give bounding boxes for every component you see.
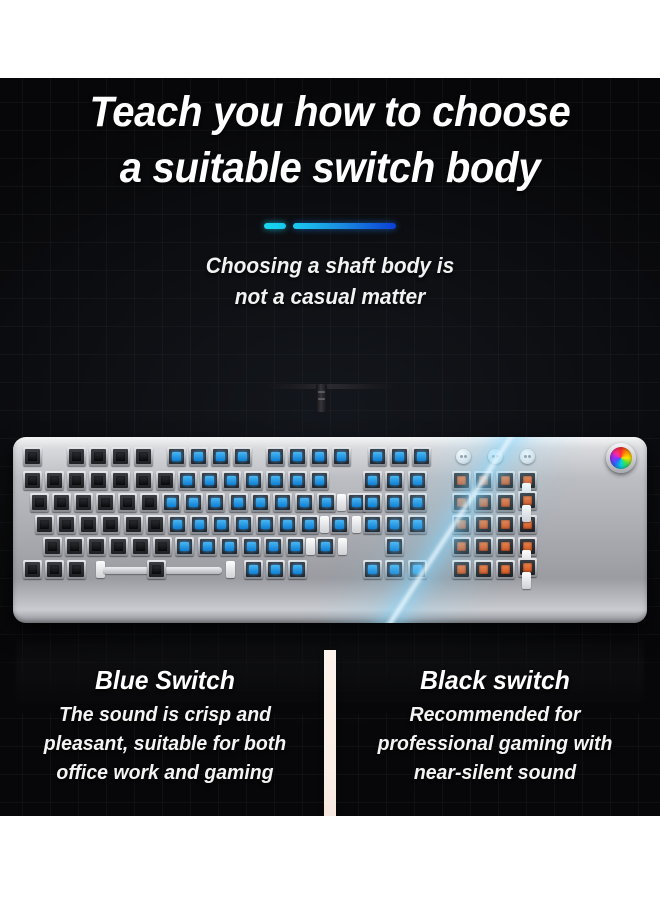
stabiliser-clip xyxy=(522,505,531,522)
comparison-column-blue: Blue Switch The sound is crisp and pleas… xyxy=(0,662,330,787)
indicator-led xyxy=(456,449,471,464)
key-switch[interactable] xyxy=(288,471,307,490)
key-switch[interactable] xyxy=(178,471,197,490)
page-subtitle: Choosing a shaft body is not a casual ma… xyxy=(17,250,644,312)
key-switch[interactable] xyxy=(317,493,336,512)
key-switch[interactable] xyxy=(316,537,335,556)
key-switch[interactable] xyxy=(251,493,270,512)
key-switch[interactable] xyxy=(244,560,263,579)
key-switch[interactable] xyxy=(67,447,86,466)
blue-switch-desc-line-2: pleasant, suitable for both xyxy=(44,732,286,755)
key-switch[interactable] xyxy=(390,447,409,466)
key-switch[interactable] xyxy=(452,515,471,534)
key-switch[interactable] xyxy=(89,471,108,490)
key-switch[interactable] xyxy=(385,515,404,534)
key-switch[interactable] xyxy=(211,447,230,466)
key-switch[interactable] xyxy=(496,537,515,556)
key-switch[interactable] xyxy=(147,560,166,579)
blue-switch-title: Blue Switch xyxy=(14,662,316,698)
page-subtitle-line-2: not a casual matter xyxy=(235,284,425,309)
key-switch[interactable] xyxy=(67,471,86,490)
key-switch[interactable] xyxy=(200,471,219,490)
key-switch[interactable] xyxy=(310,471,329,490)
key-switch[interactable] xyxy=(118,493,137,512)
key-switch[interactable] xyxy=(131,537,150,556)
key-switch[interactable] xyxy=(266,560,285,579)
key-switch[interactable] xyxy=(496,515,515,534)
key-switch[interactable] xyxy=(124,515,143,534)
key-switch[interactable] xyxy=(212,515,231,534)
key-switch[interactable] xyxy=(266,471,285,490)
key-switch[interactable] xyxy=(363,493,382,512)
key-switch[interactable] xyxy=(474,471,493,490)
key-switch[interactable] xyxy=(452,560,471,579)
key-switch[interactable] xyxy=(332,447,351,466)
key-switch[interactable] xyxy=(408,560,427,579)
key-switch[interactable] xyxy=(89,447,108,466)
black-switch-desc-line-1: Recommended for xyxy=(410,703,581,726)
key-switch[interactable] xyxy=(330,515,349,534)
key-switch[interactable] xyxy=(96,493,115,512)
key-switch[interactable] xyxy=(23,447,42,466)
key-switch[interactable] xyxy=(74,493,93,512)
key-switch[interactable] xyxy=(408,471,427,490)
key-switch[interactable] xyxy=(23,471,42,490)
key-switch[interactable] xyxy=(167,447,186,466)
stabiliser-clip xyxy=(352,516,361,533)
mechanical-keyboard xyxy=(13,437,647,623)
key-switch[interactable] xyxy=(111,447,130,466)
key-switch[interactable] xyxy=(452,537,471,556)
stabiliser-clip xyxy=(338,538,347,555)
black-switch-description: Recommended for professional gaming with… xyxy=(344,700,646,787)
key-switch[interactable] xyxy=(175,537,194,556)
key-switch[interactable] xyxy=(385,560,404,579)
stabiliser-clip xyxy=(337,494,346,511)
key-switch[interactable] xyxy=(408,515,427,534)
key-switch[interactable] xyxy=(45,471,64,490)
blue-switch-description: The sound is crisp and pleasant, suitabl… xyxy=(14,700,316,787)
rgb-knob[interactable] xyxy=(606,443,636,473)
key-switch[interactable] xyxy=(363,515,382,534)
key-switch[interactable] xyxy=(134,471,153,490)
key-switch[interactable] xyxy=(385,537,404,556)
key-switch[interactable] xyxy=(474,537,493,556)
key-switch[interactable] xyxy=(87,537,106,556)
key-switch[interactable] xyxy=(30,493,49,512)
black-switch-title: Black switch xyxy=(344,662,646,698)
key-switch[interactable] xyxy=(363,471,382,490)
key-switch[interactable] xyxy=(109,537,128,556)
key-switch[interactable] xyxy=(264,537,283,556)
key-switch[interactable] xyxy=(273,493,292,512)
key-switch[interactable] xyxy=(23,560,42,579)
key-switch[interactable] xyxy=(43,537,62,556)
key-switch[interactable] xyxy=(153,537,172,556)
key-switch[interactable] xyxy=(474,493,493,512)
key-switch[interactable] xyxy=(57,515,76,534)
key-switch[interactable] xyxy=(111,471,130,490)
key-switch[interactable] xyxy=(300,515,319,534)
blue-switch-desc-line-3: office work and gaming xyxy=(56,761,273,784)
key-switch[interactable] xyxy=(288,447,307,466)
key-switch[interactable] xyxy=(474,560,493,579)
title-divider xyxy=(0,223,660,229)
page-title: Teach you how to choose a suitable switc… xyxy=(23,84,637,196)
keyboard-cable xyxy=(265,384,395,389)
divider-segment-long xyxy=(293,223,396,229)
key-switch[interactable] xyxy=(67,560,86,579)
key-switch[interactable] xyxy=(496,493,515,512)
page-title-line-1: Teach you how to choose xyxy=(90,88,571,136)
key-switch[interactable] xyxy=(206,493,225,512)
key-switch[interactable] xyxy=(233,447,252,466)
key-switch[interactable] xyxy=(288,560,307,579)
black-switch-desc-line-3: near-silent sound xyxy=(414,761,576,784)
key-switch[interactable] xyxy=(368,447,387,466)
key-switch[interactable] xyxy=(234,515,253,534)
key-switch[interactable] xyxy=(198,537,217,556)
key-switch[interactable] xyxy=(278,515,297,534)
key-switch[interactable] xyxy=(189,447,208,466)
indicator-led xyxy=(520,449,535,464)
key-switch[interactable] xyxy=(286,537,305,556)
comparison-column-black: Black switch Recommended for professiona… xyxy=(330,662,660,787)
key-switch[interactable] xyxy=(52,493,71,512)
key-switch[interactable] xyxy=(310,447,329,466)
keyboard-cable-plug xyxy=(316,384,327,412)
key-switch[interactable] xyxy=(220,537,239,556)
key-switch[interactable] xyxy=(45,560,64,579)
key-switch[interactable] xyxy=(474,515,493,534)
divider-segment-short xyxy=(264,223,286,229)
indicator-led xyxy=(488,449,503,464)
key-switch[interactable] xyxy=(266,447,285,466)
key-switch[interactable] xyxy=(140,493,159,512)
comparison-divider xyxy=(324,650,336,816)
key-switch[interactable] xyxy=(256,515,275,534)
key-switch[interactable] xyxy=(385,471,404,490)
key-switch[interactable] xyxy=(168,515,187,534)
key-switch[interactable] xyxy=(79,515,98,534)
page-subtitle-line-1: Choosing a shaft body is xyxy=(206,253,454,278)
key-switch[interactable] xyxy=(295,493,314,512)
key-switch[interactable] xyxy=(101,515,120,534)
key-switch[interactable] xyxy=(385,493,404,512)
key-switch[interactable] xyxy=(229,493,248,512)
key-switch[interactable] xyxy=(363,560,382,579)
key-switch[interactable] xyxy=(134,447,153,466)
black-switch-desc-line-2: professional gaming with xyxy=(378,732,613,755)
key-switch[interactable] xyxy=(452,493,471,512)
stabiliser-clip xyxy=(522,572,531,589)
stabiliser-clip xyxy=(226,561,235,578)
keyboard-switch-plate xyxy=(13,437,647,623)
blue-switch-desc-line-1: The sound is crisp and xyxy=(59,703,271,726)
poster-panel: Teach you how to choose a suitable switc… xyxy=(0,78,660,816)
key-switch[interactable] xyxy=(452,471,471,490)
key-switch[interactable] xyxy=(156,471,175,490)
key-switch[interactable] xyxy=(412,447,431,466)
key-switch[interactable] xyxy=(244,471,263,490)
key-switch[interactable] xyxy=(65,537,84,556)
key-switch[interactable] xyxy=(496,560,515,579)
key-switch[interactable] xyxy=(162,493,181,512)
page-title-line-2: a suitable switch body xyxy=(23,140,637,196)
key-switch[interactable] xyxy=(242,537,261,556)
key-switch[interactable] xyxy=(146,515,165,534)
key-switch[interactable] xyxy=(35,515,54,534)
key-switch[interactable] xyxy=(408,493,427,512)
key-switch[interactable] xyxy=(190,515,209,534)
key-switch[interactable] xyxy=(496,471,515,490)
stabiliser-clip xyxy=(306,538,315,555)
key-switch[interactable] xyxy=(184,493,203,512)
stabiliser-clip xyxy=(320,516,329,533)
key-switch[interactable] xyxy=(222,471,241,490)
